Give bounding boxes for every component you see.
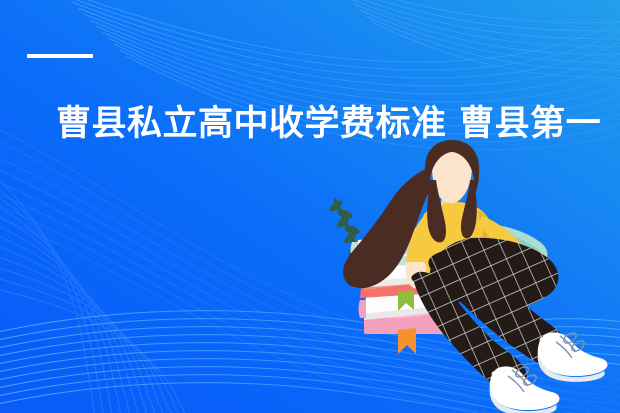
title-divider-rule bbox=[27, 54, 93, 58]
page-title: 曹县私立高中收学费标准 曹县第一 bbox=[56, 99, 601, 149]
sneaker-upper-icon bbox=[538, 331, 608, 382]
illustration-woman-on-books bbox=[0, 0, 620, 413]
promo-banner: 曹县私立高中收学费标准 曹县第一 bbox=[0, 0, 620, 413]
bookmark-orange-icon bbox=[398, 328, 416, 354]
seated-woman bbox=[343, 140, 607, 413]
